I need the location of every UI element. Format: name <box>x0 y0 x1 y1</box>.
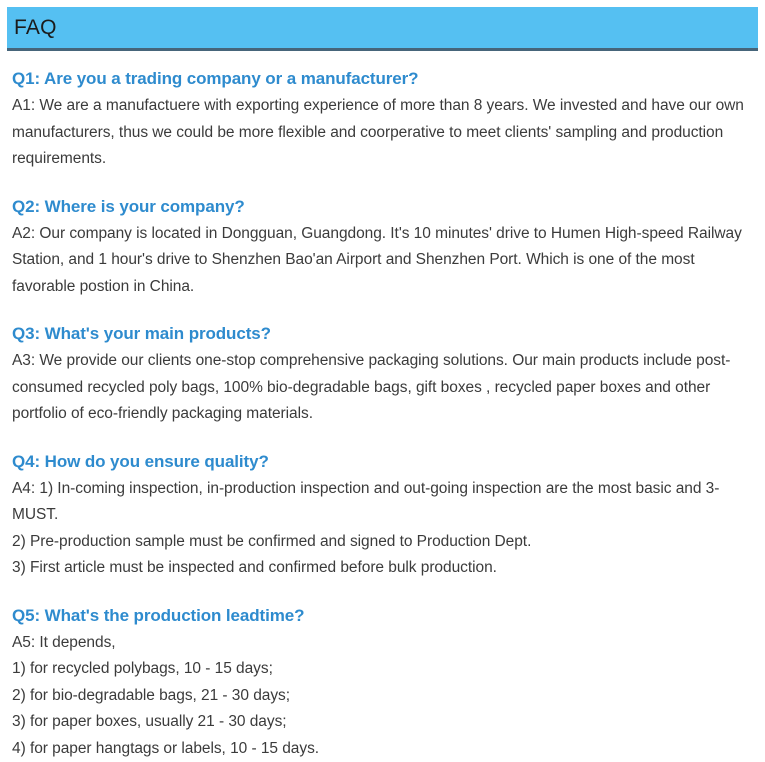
faq-item: Q1: Are you a trading company or a manuf… <box>12 66 754 173</box>
faq-answer-line: 3) First article must be inspected and c… <box>12 555 754 582</box>
faq-question: Q5: What's the production leadtime? <box>12 603 754 629</box>
faq-question: Q2: Where is your company? <box>12 194 754 220</box>
faq-answer-line: A2: Our company is located in Dongguan, … <box>12 221 754 301</box>
faq-answer-line: 1) for recycled polybags, 10 - 15 days; <box>12 656 754 683</box>
faq-answer-line: 4) for paper hangtags or labels, 10 - 15… <box>12 736 754 762</box>
faq-answer-line: 3) for paper boxes, usually 21 - 30 days… <box>12 709 754 736</box>
faq-answer-line: 2) for bio-degradable bags, 21 - 30 days… <box>12 683 754 710</box>
faq-page: FAQ Q1: Are you a trading company or a m… <box>0 0 765 748</box>
faq-answer-line: 2) Pre-production sample must be confirm… <box>12 529 754 556</box>
faq-item: Q2: Where is your company?A2: Our compan… <box>12 194 754 301</box>
faq-answer: A1: We are a manufactuere with exporting… <box>12 93 754 173</box>
faq-answer: A2: Our company is located in Dongguan, … <box>12 221 754 301</box>
faq-header-bar: FAQ <box>7 7 758 51</box>
faq-question: Q3: What's your main products? <box>12 321 754 347</box>
faq-answer-line: A4: 1) In-coming inspection, in-producti… <box>12 476 754 529</box>
faq-answer: A3: We provide our clients one-stop comp… <box>12 348 754 428</box>
faq-item: Q3: What's your main products?A3: We pro… <box>12 321 754 428</box>
faq-item: Q4: How do you ensure quality?A4: 1) In-… <box>12 449 754 582</box>
faq-answer: A4: 1) In-coming inspection, in-producti… <box>12 476 754 582</box>
faq-answer-line: A5: It depends, <box>12 630 754 657</box>
faq-list: Q1: Are you a trading company or a manuf… <box>12 66 754 762</box>
faq-answer: A5: It depends,1) for recycled polybags,… <box>12 630 754 762</box>
faq-item: Q5: What's the production leadtime?A5: I… <box>12 603 754 762</box>
faq-answer-line: A3: We provide our clients one-stop comp… <box>12 348 754 428</box>
faq-question: Q1: Are you a trading company or a manuf… <box>12 66 754 92</box>
page-title: FAQ <box>7 17 57 38</box>
faq-question: Q4: How do you ensure quality? <box>12 449 754 475</box>
faq-answer-line: A1: We are a manufactuere with exporting… <box>12 93 754 173</box>
